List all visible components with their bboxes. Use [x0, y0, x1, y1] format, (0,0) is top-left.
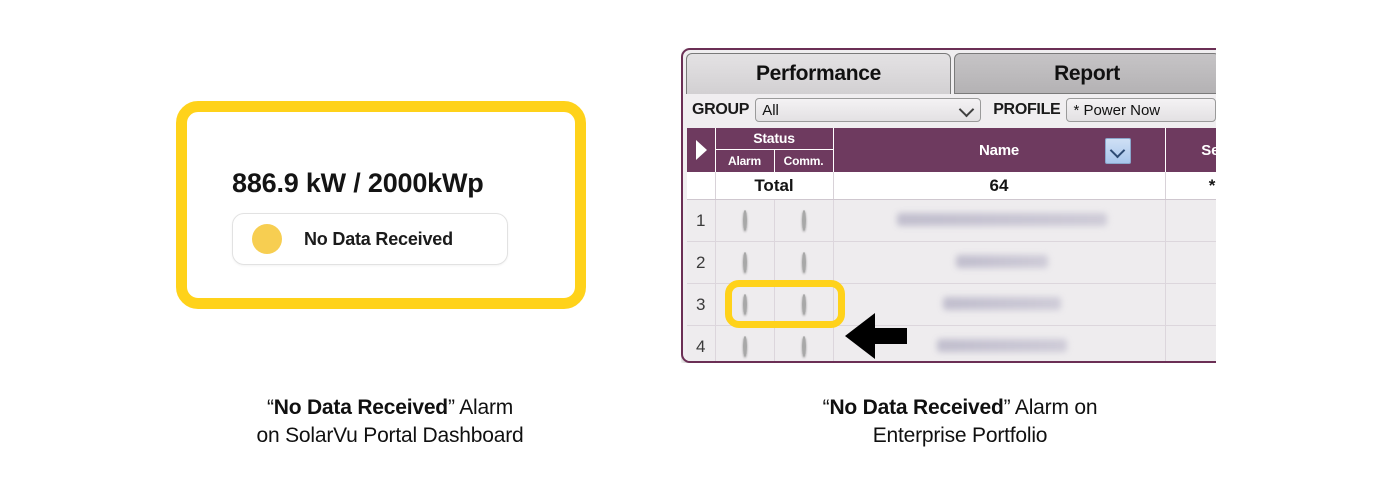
status-dot-icon — [252, 224, 282, 254]
row-number: 4 — [687, 326, 715, 364]
right-caption-emphasis: No Data Received — [829, 396, 1003, 419]
total-row-label: Total — [715, 172, 833, 200]
chevron-down-icon — [1109, 143, 1125, 159]
alarm-status-cell[interactable] — [715, 284, 774, 326]
chevron-down-icon — [959, 102, 975, 118]
card-highlight-outline: 886.9 kW / 2000kWp No Data Received — [176, 101, 586, 309]
site-name-cell[interactable] — [833, 200, 1165, 242]
comm-status-cell[interactable] — [774, 242, 833, 284]
alarm-led-icon — [743, 252, 747, 273]
card-body: 886.9 kW / 2000kWp No Data Received — [198, 123, 564, 287]
header-status: Status Alarm Comm. — [715, 128, 833, 172]
left-caption: “No Data Received” Alarm on SolarVu Port… — [140, 394, 640, 450]
header-select-label: Sel — [1201, 142, 1216, 159]
header-status-alarm[interactable]: Alarm — [716, 150, 774, 172]
header-name[interactable]: Name — [833, 128, 1165, 172]
tab-performance[interactable]: Performance — [686, 53, 951, 94]
left-caption-line2: on SolarVu Portal Dashboard — [257, 424, 524, 447]
comm-led-icon — [802, 294, 806, 315]
comm-status-cell[interactable] — [774, 326, 833, 364]
alarm-status-cell[interactable] — [715, 200, 774, 242]
tab-performance-label: Performance — [756, 62, 881, 86]
name-sort-dropdown-button[interactable] — [1105, 138, 1131, 164]
header-select[interactable]: Sel — [1165, 128, 1216, 172]
select-cell[interactable] — [1165, 242, 1216, 284]
total-row-select: * — [1165, 172, 1216, 200]
table-row[interactable]: 1 — [687, 200, 1216, 242]
group-select[interactable]: All — [755, 98, 981, 122]
table-total-row: Total 64 * — [687, 172, 1216, 200]
alarm-led-icon — [743, 336, 747, 357]
comm-led-icon — [802, 210, 806, 231]
table-header-row: Status Alarm Comm. Name Sel — [687, 128, 1216, 172]
select-cell[interactable] — [1165, 326, 1216, 364]
alarm-led-icon — [743, 294, 747, 315]
alarm-status-cell[interactable] — [715, 242, 774, 284]
table-row[interactable]: 2 — [687, 242, 1216, 284]
total-row-spacer — [687, 172, 715, 200]
tab-report[interactable]: Report — [954, 53, 1216, 94]
callout-arrow-icon — [845, 312, 907, 360]
profile-select[interactable]: * Power Now — [1066, 98, 1216, 122]
header-name-label: Name — [979, 142, 1019, 159]
row-number: 2 — [687, 242, 715, 284]
right-caption: “No Data Received” Alarm on Enterprise P… — [710, 394, 1210, 450]
header-status-comm[interactable]: Comm. — [774, 150, 833, 172]
tab-bar: Performance Report — [683, 50, 1216, 94]
expand-triangle-icon — [696, 140, 707, 160]
row-number: 1 — [687, 200, 715, 242]
header-status-label: Status — [716, 128, 833, 150]
left-caption-quote-open: “ — [267, 396, 274, 419]
redacted-site-name — [897, 213, 1107, 226]
status-pill[interactable]: No Data Received — [232, 213, 508, 265]
portfolio-panel: Performance Report GROUP All PROFILE * P… — [681, 48, 1216, 363]
power-readout: 886.9 kW / 2000kWp — [232, 168, 484, 199]
comm-status-cell[interactable] — [774, 200, 833, 242]
site-name-cell[interactable] — [833, 242, 1165, 284]
row-number: 3 — [687, 284, 715, 326]
group-label: GROUP — [692, 101, 749, 119]
table-row[interactable]: 3 — [687, 284, 1216, 326]
total-row-count: 64 — [833, 172, 1165, 200]
table-row[interactable]: 4 — [687, 326, 1216, 364]
comm-status-cell[interactable] — [774, 284, 833, 326]
select-cell[interactable] — [1165, 200, 1216, 242]
status-pill-label: No Data Received — [304, 229, 453, 250]
redacted-site-name — [937, 339, 1067, 352]
select-cell[interactable] — [1165, 284, 1216, 326]
alarm-led-icon — [743, 210, 747, 231]
left-caption-quote-close: ” — [448, 396, 455, 419]
comm-led-icon — [802, 252, 806, 273]
group-select-value: All — [762, 102, 779, 119]
enterprise-portfolio-figure: Performance Report GROUP All PROFILE * P… — [681, 48, 1216, 363]
alarm-status-cell[interactable] — [715, 326, 774, 364]
comm-led-icon — [802, 336, 806, 357]
right-caption-tail: Alarm on — [1010, 396, 1097, 419]
left-caption-tail: Alarm — [455, 396, 513, 419]
right-caption-line2: Enterprise Portfolio — [873, 424, 1048, 447]
redacted-site-name — [943, 297, 1061, 310]
profile-label: PROFILE — [993, 101, 1060, 119]
filter-bar: GROUP All PROFILE * Power Now — [683, 94, 1216, 126]
solarvu-dashboard-card: 886.9 kW / 2000kWp No Data Received — [176, 101, 586, 309]
header-corner-cell[interactable] — [687, 128, 715, 172]
redacted-site-name — [956, 255, 1048, 268]
portfolio-table: Status Alarm Comm. Name Sel — [687, 128, 1216, 363]
profile-select-value: * Power Now — [1073, 102, 1160, 119]
left-caption-emphasis: No Data Received — [274, 396, 448, 419]
tab-report-label: Report — [1054, 62, 1120, 86]
